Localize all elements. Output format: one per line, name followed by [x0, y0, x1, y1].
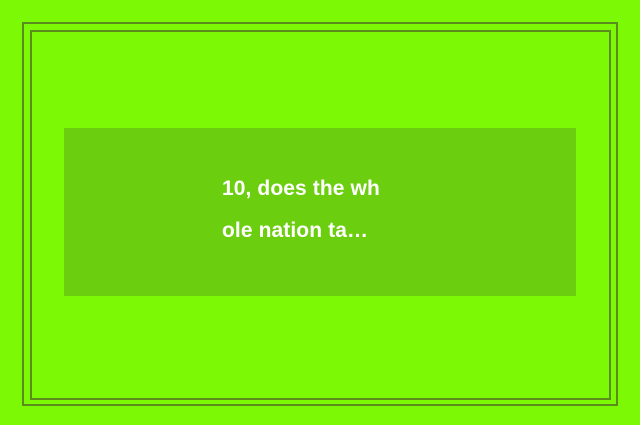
message-text: 10, does the wh ole nation ta…	[222, 168, 418, 252]
message-panel: 10, does the wh ole nation ta…	[64, 128, 576, 296]
text-card-canvas: 10, does the wh ole nation ta…	[0, 0, 640, 425]
